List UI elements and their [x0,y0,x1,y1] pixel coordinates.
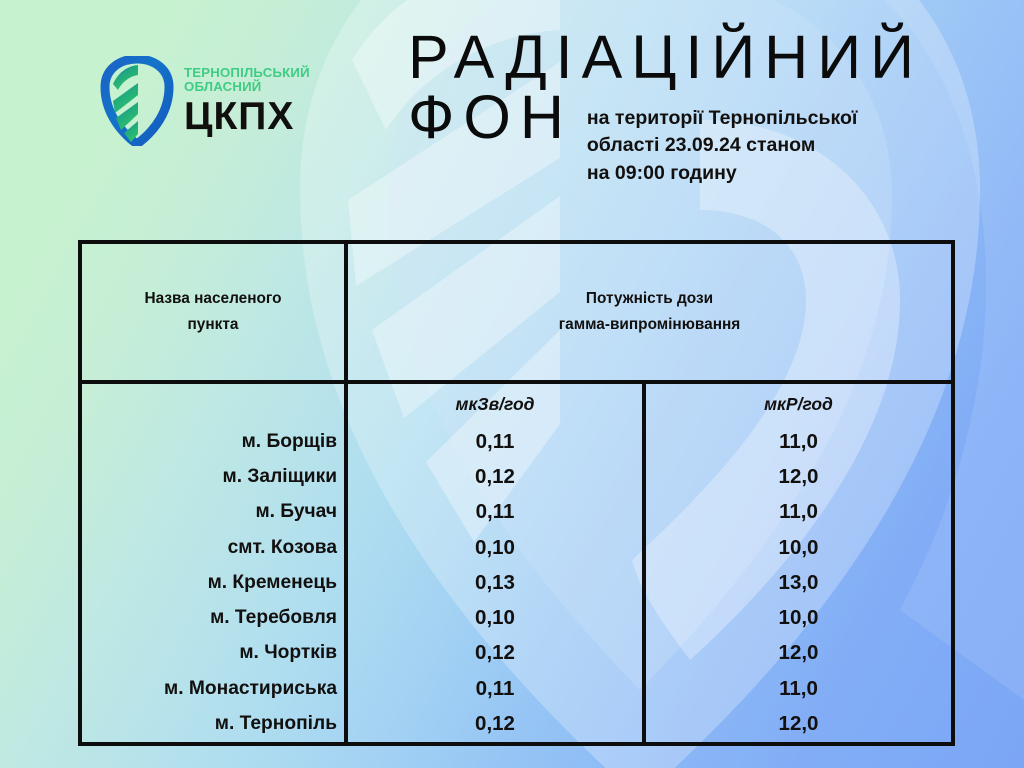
logo-line-1: ТЕРНОПІЛЬСЬКИЙ [184,66,310,80]
cell-usv-value: 0,12 [348,706,642,741]
table-header-row: Назва населеного пункта Потужність дози … [82,244,951,384]
cell-usv-value: 0,12 [348,636,642,671]
subtitle-line-3: на 09:00 годину [587,160,857,188]
page-subtitle: на території Тернопільської області 23.0… [587,105,857,188]
cell-ur-value: 12,0 [646,459,951,494]
table-row: м. Кременець [82,565,344,600]
cell-usv-value: 0,10 [348,530,642,565]
table-row: смт. Козова [82,530,344,565]
table-row: м. Тернопіль [82,706,344,741]
logo-wordmark: ТЕРНОПІЛЬСЬКИЙ ОБЛАСНИЙ ЦКПХ [184,66,310,137]
table-row: м. Заліщики [82,459,344,494]
cell-ur-value: 13,0 [646,565,951,600]
cell-usv-value: 0,11 [348,671,642,706]
cell-usv-value: 0,13 [348,565,642,600]
title-second-row: ФОН на території Тернопільської області … [408,87,1008,188]
cell-usv-value: 0,12 [348,459,642,494]
cell-ur-value: 11,0 [646,671,951,706]
shield-logo-icon [100,56,174,146]
subtitle-line-1: на території Тернопільської [587,105,857,133]
cell-usv-value: 0,10 [348,600,642,635]
column-city: м. Борщівм. Заліщиким. Бучачсмт. Козовам… [82,384,348,742]
organization-logo: ТЕРНОПІЛЬСЬКИЙ ОБЛАСНИЙ ЦКПХ [100,56,310,146]
unit-label-usv: мкЗв/год [348,384,642,424]
cell-ur-value: 12,0 [646,636,951,671]
table-row: м. Теребовля [82,600,344,635]
cell-ur-value: 10,0 [646,530,951,565]
page-title-line2: ФОН [408,87,573,148]
column-usv: мкЗв/год 0,110,120,110,100,130,100,120,1… [348,384,646,742]
radiation-data-table: Назва населеного пункта Потужність дози … [78,240,955,746]
cell-ur-value: 12,0 [646,706,951,741]
column-header-city-line2: пункта [144,312,281,338]
table-row: м. Бучач [82,495,344,530]
table-row: м. Борщів [82,424,344,459]
table-body: м. Борщівм. Заліщиким. Бучачсмт. Козовам… [82,384,951,742]
column-ur: мкР/год 11,012,011,010,013,010,012,011,0… [646,384,951,742]
cell-ur-value: 11,0 [646,495,951,530]
cell-ur-value: 11,0 [646,424,951,459]
header: ТЕРНОПІЛЬСЬКИЙ ОБЛАСНИЙ ЦКПХ РАДІАЦІЙНИЙ… [0,0,1024,236]
subtitle-line-2: області 23.09.24 станом [587,132,857,160]
column-header-dose-line1: Потужність дози [559,286,741,312]
logo-acronym: ЦКПХ [184,97,310,136]
unit-cell-city-placeholder [82,384,344,424]
page-title-line1: РАДІАЦІЙНИЙ [408,28,1008,87]
cell-usv-value: 0,11 [348,495,642,530]
column-header-city: Назва населеного пункта [82,244,348,380]
column-header-dose: Потужність дози гамма-випромінювання [348,244,951,380]
unit-label-ur: мкР/год [646,384,951,424]
cell-ur-value: 10,0 [646,600,951,635]
table-row: м. Чортків [82,636,344,671]
column-header-dose-line2: гамма-випромінювання [559,312,741,338]
cell-usv-value: 0,11 [348,424,642,459]
column-header-city-line1: Назва населеного [144,286,281,312]
table-row: м. Монастириська [82,671,344,706]
logo-line-2: ОБЛАСНИЙ [184,80,310,94]
title-block: РАДІАЦІЙНИЙ ФОН на території Тернопільсь… [408,28,1008,188]
